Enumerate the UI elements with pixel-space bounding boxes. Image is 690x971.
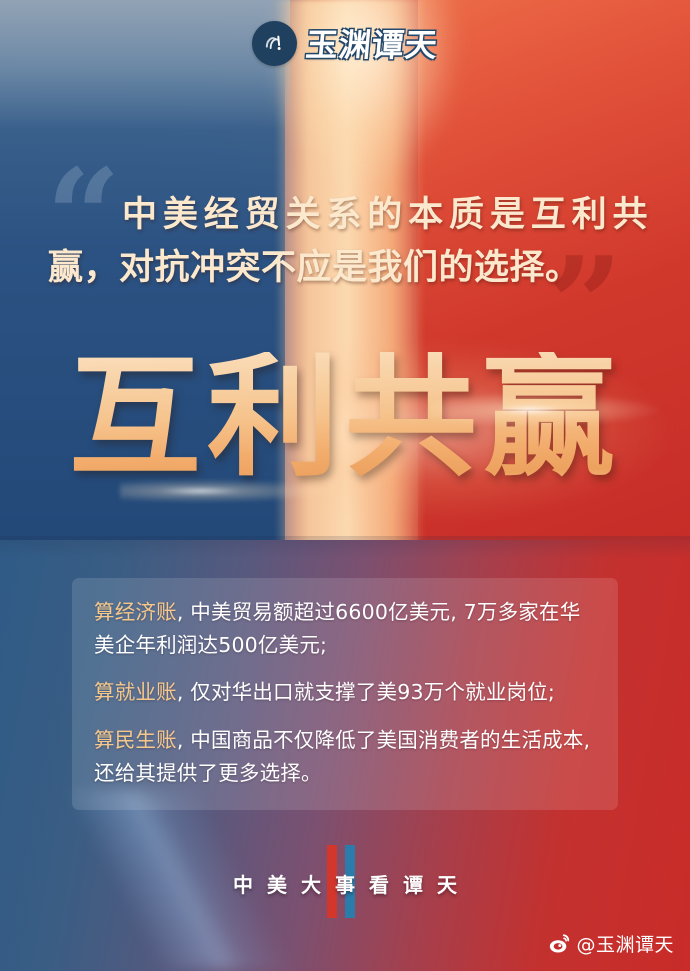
weibo-eye-icon — [548, 932, 571, 955]
fact-body: , 仅对华出口就支撑了美93万个就业岗位; — [177, 680, 555, 704]
fact-paragraph: 算就业账, 仅对华出口就支撑了美93万个就业岗位; — [94, 676, 596, 709]
footer-slogan: 中美大事看谭天 — [0, 869, 690, 898]
brand-header: 玉渊谭天 — [0, 20, 690, 66]
weibo-credit: @玉渊谭天 — [548, 930, 674, 957]
wave-swirl-icon — [252, 21, 297, 66]
fact-highlight: 算经济账 — [94, 600, 177, 624]
weibo-handle: @玉渊谭天 — [576, 930, 674, 957]
headline-title: 互利共赢 — [0, 352, 690, 484]
facts-panel: 算经济账, 中美贸易额超过6600亿美元, 7万多家在华美企年利润达500亿美元… — [72, 578, 618, 810]
fact-paragraph: 算经济账, 中美贸易额超过6600亿美元, 7万多家在华美企年利润达500亿美元… — [94, 596, 596, 662]
background-seam-shadow — [0, 536, 690, 558]
brand-name: 玉渊谭天 — [304, 20, 440, 66]
pull-quote-text: 中美经贸关系的本质是互利共赢，对抗冲突不应是我们的选择。 — [48, 188, 648, 294]
poster-canvas: 玉渊谭天 “ ” 中美经贸关系的本质是互利共赢，对抗冲突不应是我们的选择。 互利… — [0, 0, 690, 971]
fact-highlight: 算民生账 — [94, 728, 177, 752]
fact-paragraph: 算民生账, 中国商品不仅降低了美国消费者的生活成本, 还给其提供了更多选择。 — [94, 724, 596, 790]
fact-highlight: 算就业账 — [94, 680, 177, 704]
